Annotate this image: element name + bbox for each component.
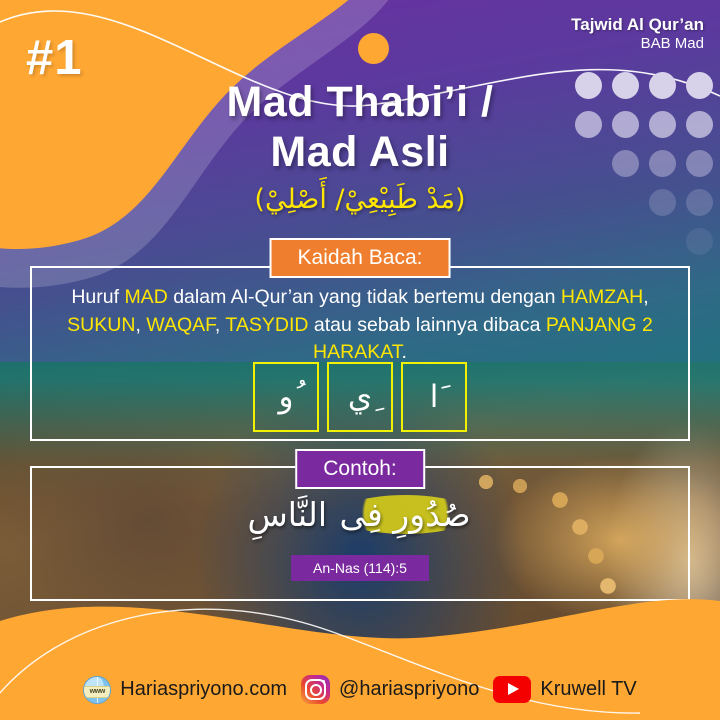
mad-letter-boxes: ُو ِي َا <box>0 362 720 432</box>
poster-canvas: #1 Tajwid Al Qur’an BAB Mad Mad Thabi’i … <box>0 0 720 720</box>
title-line-1: Mad Thabi’i / <box>0 78 720 128</box>
brand-header: Tajwid Al Qur’an BAB Mad <box>571 14 704 54</box>
youtube-label: Kruwell TV <box>540 678 636 701</box>
rule-keyword: TASYDID <box>225 314 308 336</box>
globe-icon: www <box>83 676 111 704</box>
instagram-label: @hariaspriyono <box>339 678 479 701</box>
rule-text-segment: Huruf <box>71 286 124 308</box>
rule-text: Huruf MAD dalam Al-Qur’an yang tidak ber… <box>40 284 680 367</box>
rule-text-segment: . <box>402 341 407 363</box>
brand-title: Tajwid Al Qur’an <box>571 14 704 35</box>
orange-dot-decoration <box>358 33 389 64</box>
rule-keyword: WAQAF <box>146 314 215 336</box>
verse-citation: An-Nas (114):5 <box>291 555 429 581</box>
title-line-2: Mad Asli <box>0 128 720 178</box>
footer-item-instagram[interactable]: @hariaspriyono <box>301 675 479 704</box>
letter-box-dhammah-waw: ُو <box>253 362 319 432</box>
kaidah-baca-pill: Kaidah Baca: <box>270 238 451 278</box>
rule-keyword: SUKUN <box>67 314 135 336</box>
instagram-icon <box>301 675 330 704</box>
rule-keyword: MAD <box>124 286 167 308</box>
example-verse: صُدُورِ فِى النَّاسِ <box>0 495 720 534</box>
letter-box-kasrah-ya: ِي <box>327 362 393 432</box>
verse-marked-segment: صُدُورِ فِى <box>338 495 473 534</box>
rule-text-segment: , <box>215 314 225 336</box>
footer-item-youtube[interactable]: Kruwell TV <box>493 676 636 703</box>
page-title: Mad Thabi’i / Mad Asli (مَدْ طَبِيْعِيْ/… <box>0 78 720 215</box>
footer-social-bar: www Hariaspriyono.com @hariaspriyono Kru… <box>0 675 720 704</box>
globe-icon-www-label: www <box>84 686 110 698</box>
rule-text-segment: atau sebab lainnya dibaca <box>308 314 545 336</box>
rule-keyword: HAMZAH <box>561 286 643 308</box>
youtube-icon <box>493 676 531 703</box>
brand-subtitle: BAB Mad <box>571 35 704 54</box>
verse-plain-segment: النَّاسِ <box>247 495 327 534</box>
letter-box-fathah-alif: َا <box>401 362 467 432</box>
title-arabic: (مَدْ طَبِيْعِيْ/ أَصْلِيْ) <box>0 184 720 215</box>
rule-text-segment: dalam Al-Qur’an yang tidak bertemu denga… <box>168 286 561 308</box>
rule-text-segment: , <box>643 286 648 308</box>
website-label: Hariaspriyono.com <box>120 678 287 701</box>
rule-text-segment: , <box>135 314 146 336</box>
contoh-pill: Contoh: <box>295 449 425 489</box>
footer-item-website[interactable]: www Hariaspriyono.com <box>83 676 287 704</box>
